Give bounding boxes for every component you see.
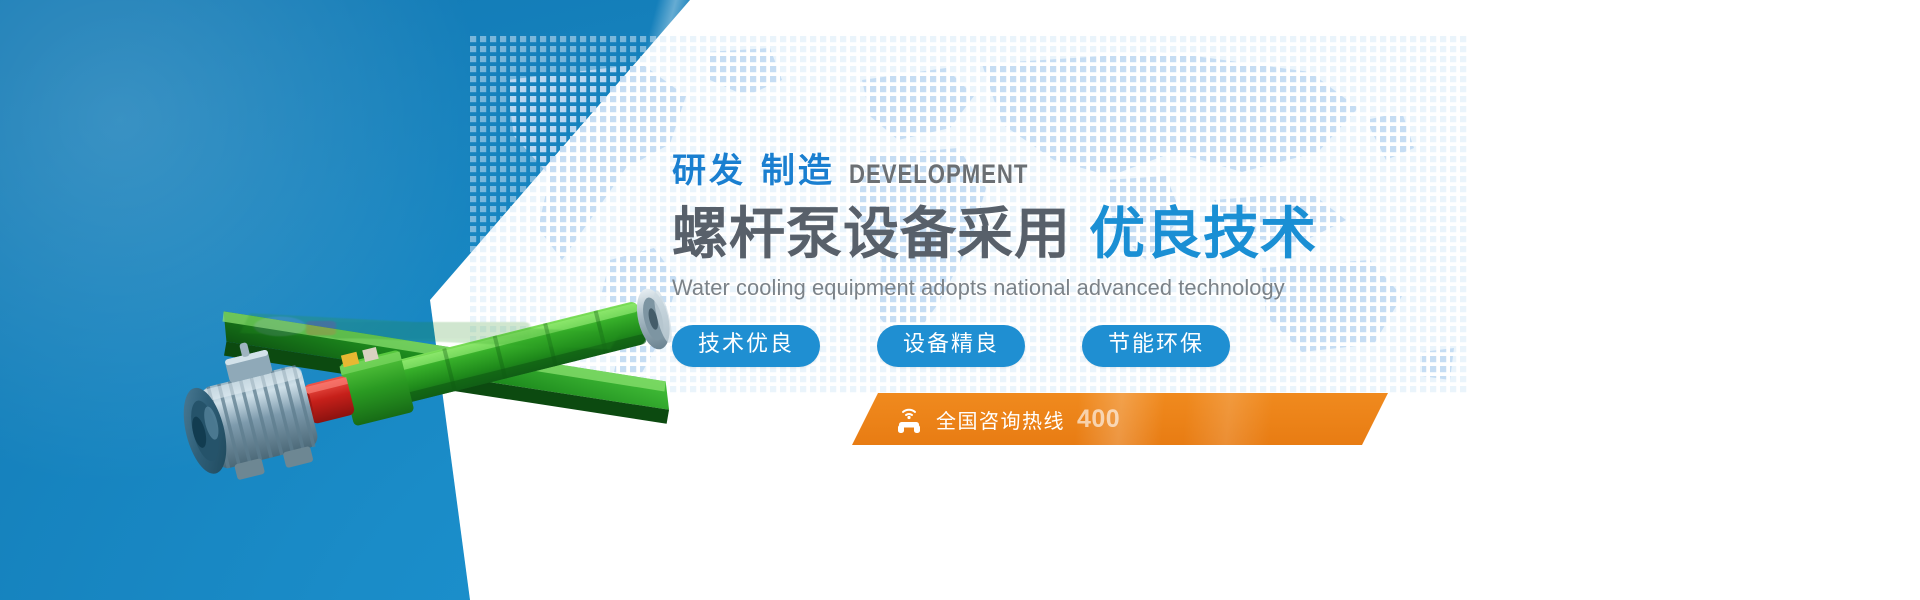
kicker-en: DEVELOPMENT [849, 159, 1028, 190]
copy-block: 研发 制造 DEVELOPMENT 螺杆泵设备采用 优良技术 Water coo… [672, 150, 1432, 367]
hotline-number: 400 [1077, 405, 1120, 434]
screw-pump-photo [150, 180, 710, 480]
page-title: 螺杆泵设备采用 优良技术 [672, 206, 1432, 263]
feature-pill-equipment[interactable]: 设备精良 [877, 325, 1025, 367]
kicker-line: 研发 制造 DEVELOPMENT [672, 150, 1432, 192]
headline-accent: 优良技术 [1089, 206, 1317, 263]
feature-pill-energy-saving[interactable]: 节能环保 [1082, 325, 1230, 367]
feature-pill-list: 技术优良 设备精良 节能环保 [672, 325, 1432, 367]
feature-pill-technology[interactable]: 技术优良 [672, 325, 820, 367]
subtitle: Water cooling equipment adopts national … [672, 275, 1409, 301]
hotline-bar[interactable]: 全国咨询热线 400 [852, 393, 1388, 445]
headline-primary: 螺杆泵设备采用 [672, 206, 1071, 263]
telephone-icon [894, 403, 924, 435]
hotline-content: 全国咨询热线 400 [852, 403, 1120, 435]
promo-banner: 研发 制造 DEVELOPMENT 螺杆泵设备采用 优良技术 Water coo… [0, 0, 1920, 600]
hotline-label: 全国咨询热线 [936, 405, 1065, 434]
kicker-cn: 研发 制造 [672, 143, 835, 192]
